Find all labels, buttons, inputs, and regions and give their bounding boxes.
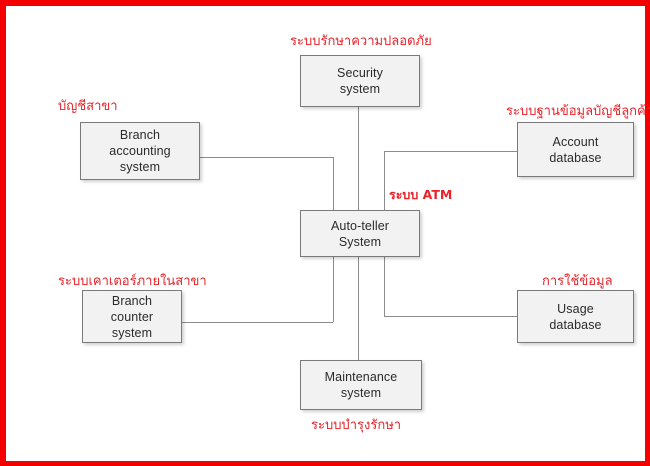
node-branch-accounting-system-label: Branch accounting system <box>109 127 170 175</box>
node-security-system[interactable]: Security system <box>300 55 420 107</box>
node-maintenance-system[interactable]: Maintenance system <box>300 360 422 410</box>
annotation-auto-teller-system: ระบบ ATM <box>389 187 452 203</box>
annotation-branch-accounting-system: บัญชีสาขา <box>58 99 118 115</box>
node-branch-counter-system[interactable]: Branch counter system <box>82 290 182 343</box>
connector-usage-database-vertical <box>384 251 385 316</box>
connector-branch-counter-vertical <box>333 251 334 322</box>
connector-security-to-autoteller <box>358 107 359 227</box>
diagram-surface: ระบบรักษาความปลอดภัย บัญชีสาขา ระบบฐานข้… <box>6 6 645 461</box>
diagram-canvas: ระบบรักษาความปลอดภัย บัญชีสาขา ระบบฐานข้… <box>0 0 650 466</box>
annotation-usage-database: การใช้ข้อมูล <box>542 274 613 290</box>
annotation-account-database: ระบบฐานข้อมูลบัญชีลูกค้า <box>506 104 650 120</box>
node-branch-counter-system-label: Branch counter system <box>111 293 153 341</box>
annotation-branch-counter-system: ระบบเคาเตอร์ภายในสาขา <box>58 274 207 290</box>
connector-account-database-horizontal <box>384 151 517 152</box>
node-auto-teller-system[interactable]: Auto-teller System <box>300 210 420 257</box>
node-usage-database[interactable]: Usage database <box>517 290 634 343</box>
node-account-database-label: Account database <box>549 134 601 166</box>
node-maintenance-system-label: Maintenance system <box>325 369 398 401</box>
connector-branch-counter-horizontal <box>182 322 333 323</box>
frame-border-right <box>645 0 650 466</box>
node-usage-database-label: Usage database <box>549 301 601 333</box>
connector-maintenance-to-autoteller <box>358 251 359 360</box>
node-branch-accounting-system[interactable]: Branch accounting system <box>80 122 200 180</box>
node-security-system-label: Security system <box>337 65 383 97</box>
annotation-maintenance-system: ระบบบำรุงรักษา <box>311 418 401 434</box>
annotation-security-system: ระบบรักษาความปลอดภัย <box>290 34 432 50</box>
connector-branch-accounting-horizontal <box>200 157 333 158</box>
node-auto-teller-system-label: Auto-teller System <box>331 218 389 250</box>
frame-border-bottom <box>0 461 650 466</box>
connector-usage-database-horizontal <box>384 316 517 317</box>
node-account-database[interactable]: Account database <box>517 122 634 177</box>
